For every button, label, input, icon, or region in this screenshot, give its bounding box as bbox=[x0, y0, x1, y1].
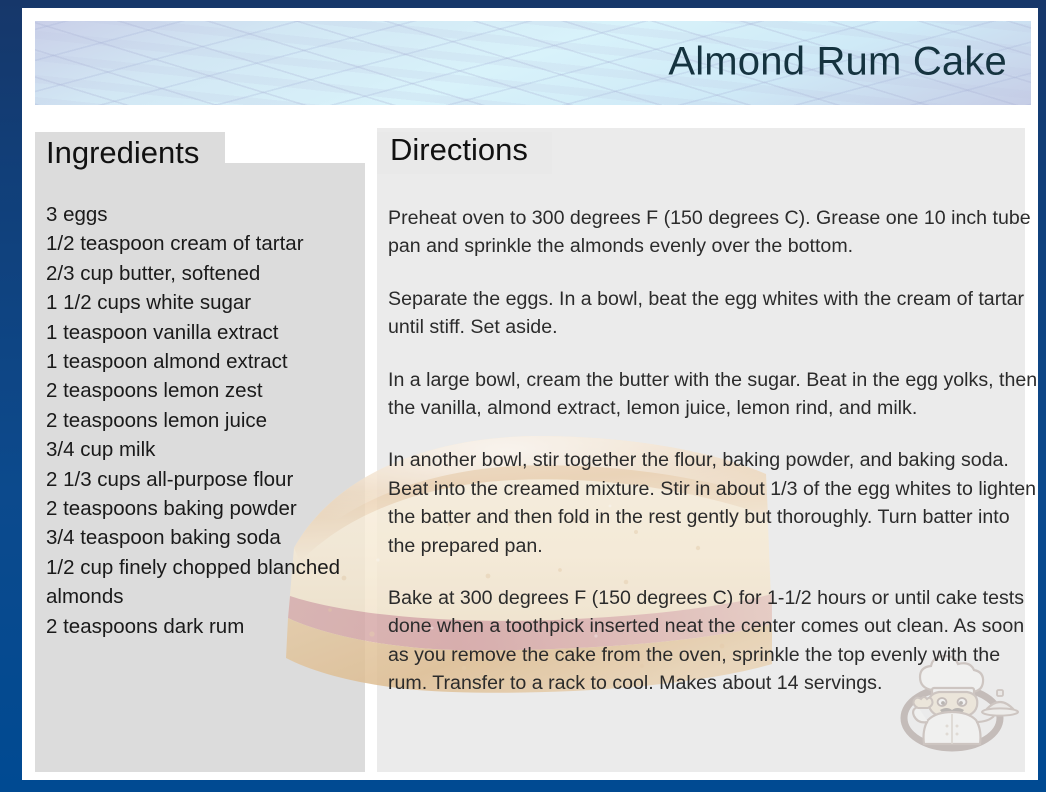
ingredients-heading-badge: Ingredients bbox=[35, 132, 225, 176]
ingredient-item: 2 1/3 cups all-purpose flour bbox=[46, 465, 364, 494]
ingredient-item: 2 teaspoons baking powder bbox=[46, 494, 364, 523]
direction-step: Separate the eggs. In a bowl, beat the e… bbox=[388, 285, 1038, 342]
ingredients-heading: Ingredients bbox=[46, 135, 199, 171]
ingredient-item: 3/4 teaspoon baking soda bbox=[46, 523, 364, 552]
ingredient-item: 1 teaspoon vanilla extract bbox=[46, 318, 364, 347]
ingredients-list: 3 eggs1/2 teaspoon cream of tartar2/3 cu… bbox=[46, 200, 364, 641]
directions-heading: Directions bbox=[390, 132, 528, 168]
ingredient-item: 1/2 cup finely chopped blanched almonds bbox=[46, 553, 364, 612]
recipe-title: Almond Rum Cake bbox=[668, 40, 1007, 85]
directions-heading-badge: Directions bbox=[377, 132, 552, 174]
ingredient-item: 1/2 teaspoon cream of tartar bbox=[46, 229, 364, 258]
ingredient-item: 2/3 cup butter, softened bbox=[46, 259, 364, 288]
direction-step: Bake at 300 degrees F (150 degrees C) fo… bbox=[388, 584, 1038, 698]
direction-step: Preheat oven to 300 degrees F (150 degre… bbox=[388, 204, 1038, 261]
ingredient-item: 1 1/2 cups white sugar bbox=[46, 288, 364, 317]
header-banner: Almond Rum Cake bbox=[35, 21, 1031, 105]
recipe-card: Almond Rum Cake Ingredients Directions bbox=[0, 0, 1046, 792]
ingredient-item: 3/4 cup milk bbox=[46, 435, 364, 464]
ingredient-item: 1 teaspoon almond extract bbox=[46, 347, 364, 376]
directions-steps: Preheat oven to 300 degrees F (150 degre… bbox=[388, 204, 1038, 698]
ingredient-item: 3 eggs bbox=[46, 200, 364, 229]
ingredient-item: 2 teaspoons lemon zest bbox=[46, 376, 364, 405]
ingredient-item: 2 teaspoons dark rum bbox=[46, 612, 364, 641]
direction-step: In another bowl, stir together the flour… bbox=[388, 446, 1038, 560]
recipe-page: Almond Rum Cake Ingredients Directions bbox=[22, 8, 1038, 780]
ingredient-item: 2 teaspoons lemon juice bbox=[46, 406, 364, 435]
direction-step: In a large bowl, cream the butter with t… bbox=[388, 366, 1038, 423]
